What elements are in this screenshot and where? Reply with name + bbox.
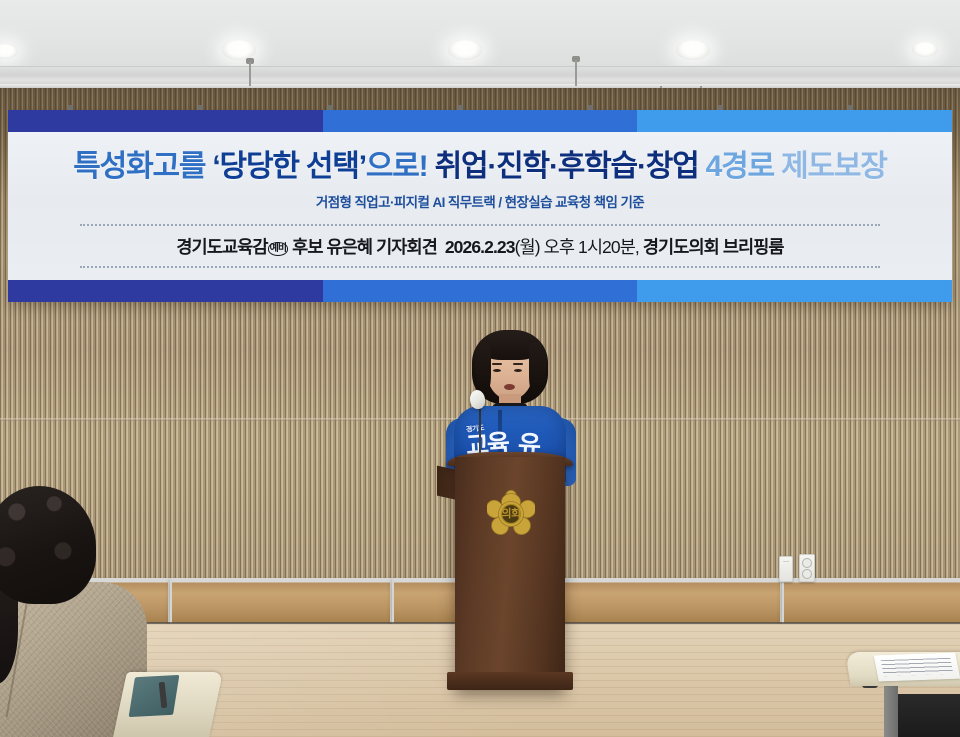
desk-leg bbox=[884, 684, 898, 737]
stripe-segment-1 bbox=[8, 280, 323, 302]
power-outlet-plate[interactable] bbox=[799, 554, 815, 582]
headline-part-2: ‘당당한 선택’ bbox=[212, 150, 365, 183]
event-banner: 특성화고를 ‘당당한 선택’으로! 취업·진학·후학습·창업 4경로 제도보장 … bbox=[8, 110, 952, 302]
speaker-eyebrow-right bbox=[513, 363, 523, 365]
banner-headline: 특성화고를 ‘당당한 선택’으로! 취업·진학·후학습·창업 4경로 제도보장 bbox=[73, 152, 886, 182]
ceiling-light-icon bbox=[222, 40, 256, 60]
speaker-eye-right bbox=[514, 369, 522, 372]
headline-part-3: 으로! bbox=[366, 150, 435, 183]
stripe-segment-1 bbox=[8, 110, 323, 132]
banner-divider-bottom bbox=[80, 266, 880, 268]
banner-divider-top bbox=[80, 224, 880, 226]
light-switch-plate[interactable] bbox=[779, 556, 793, 582]
banner-bottom-stripe bbox=[8, 280, 952, 302]
speaker-hair-left bbox=[475, 342, 491, 394]
stripe-segment-2 bbox=[323, 110, 638, 132]
info-event-type: 기자회견 bbox=[376, 237, 437, 257]
desk-under-panel bbox=[898, 694, 960, 737]
stage-railing-segment bbox=[782, 578, 960, 628]
headline-part-6: 제도보장 bbox=[781, 150, 887, 183]
info-pre-candidate-mark: 예비 bbox=[268, 242, 289, 256]
stage-railing-segment bbox=[560, 578, 782, 628]
stripe-segment-3 bbox=[637, 280, 952, 302]
info-weekday: (월) bbox=[515, 237, 540, 257]
ceiling-light-icon bbox=[676, 40, 710, 60]
emblem-label: 의회 bbox=[487, 489, 535, 537]
desk-notepad[interactable] bbox=[129, 675, 180, 717]
press-conference-scene: 특성화고를 ‘당당한 선택’으로! 취업·진학·후학습·창업 4경로 제도보장 … bbox=[0, 0, 960, 737]
speaker-eye-left bbox=[493, 369, 501, 372]
stripe-segment-3 bbox=[637, 110, 952, 132]
banner-content: 특성화고를 ‘당당한 선택’으로! 취업·진학·후학습·창업 4경로 제도보장 … bbox=[8, 132, 952, 280]
info-location: 경기도의회 브리핑룸 bbox=[643, 237, 784, 257]
stripe-segment-2 bbox=[323, 280, 638, 302]
ceiling-wire bbox=[575, 60, 577, 86]
outlet-socket-icon bbox=[802, 558, 812, 568]
headline-part-1: 특성화고를 bbox=[73, 150, 212, 183]
speaker-mouth bbox=[504, 384, 515, 390]
info-time: 오후 1시20분, bbox=[544, 237, 639, 257]
ceiling-wire bbox=[249, 62, 251, 86]
attendee-hair bbox=[0, 486, 96, 604]
document-text-lines bbox=[881, 658, 954, 676]
banner-top-stripe bbox=[8, 110, 952, 132]
headline-part-5: 4경로 bbox=[706, 150, 781, 183]
switch-line bbox=[783, 561, 789, 562]
assembly-emblem-icon: 의회 bbox=[487, 489, 535, 537]
info-candidate-word: 후보 bbox=[292, 237, 322, 257]
info-office: 경기도교육감 bbox=[176, 237, 267, 257]
info-person-name: 유은혜 bbox=[327, 237, 373, 257]
banner-info-line: 경기도교육감예비 후보 유은혜 기자회견 2026.2.23(월) 오후 1시2… bbox=[176, 234, 783, 259]
speaker-eyebrow-left bbox=[492, 363, 502, 365]
stage-railing-segment bbox=[392, 578, 458, 628]
info-date: 2026.2.23 bbox=[445, 237, 515, 257]
ceiling-light-icon bbox=[912, 42, 938, 57]
ceiling-light-icon bbox=[448, 40, 482, 60]
headline-part-4: 취업·진학·후학습·창업 bbox=[435, 150, 706, 183]
outlet-socket-icon bbox=[802, 569, 812, 579]
ceiling bbox=[0, 0, 960, 72]
podium-base bbox=[447, 672, 573, 690]
banner-subtitle: 거점형 직업고·피지컬 AI 직무트랙 / 현장실습 교육청 책임 기준 bbox=[316, 191, 644, 211]
printed-document[interactable] bbox=[874, 653, 960, 682]
